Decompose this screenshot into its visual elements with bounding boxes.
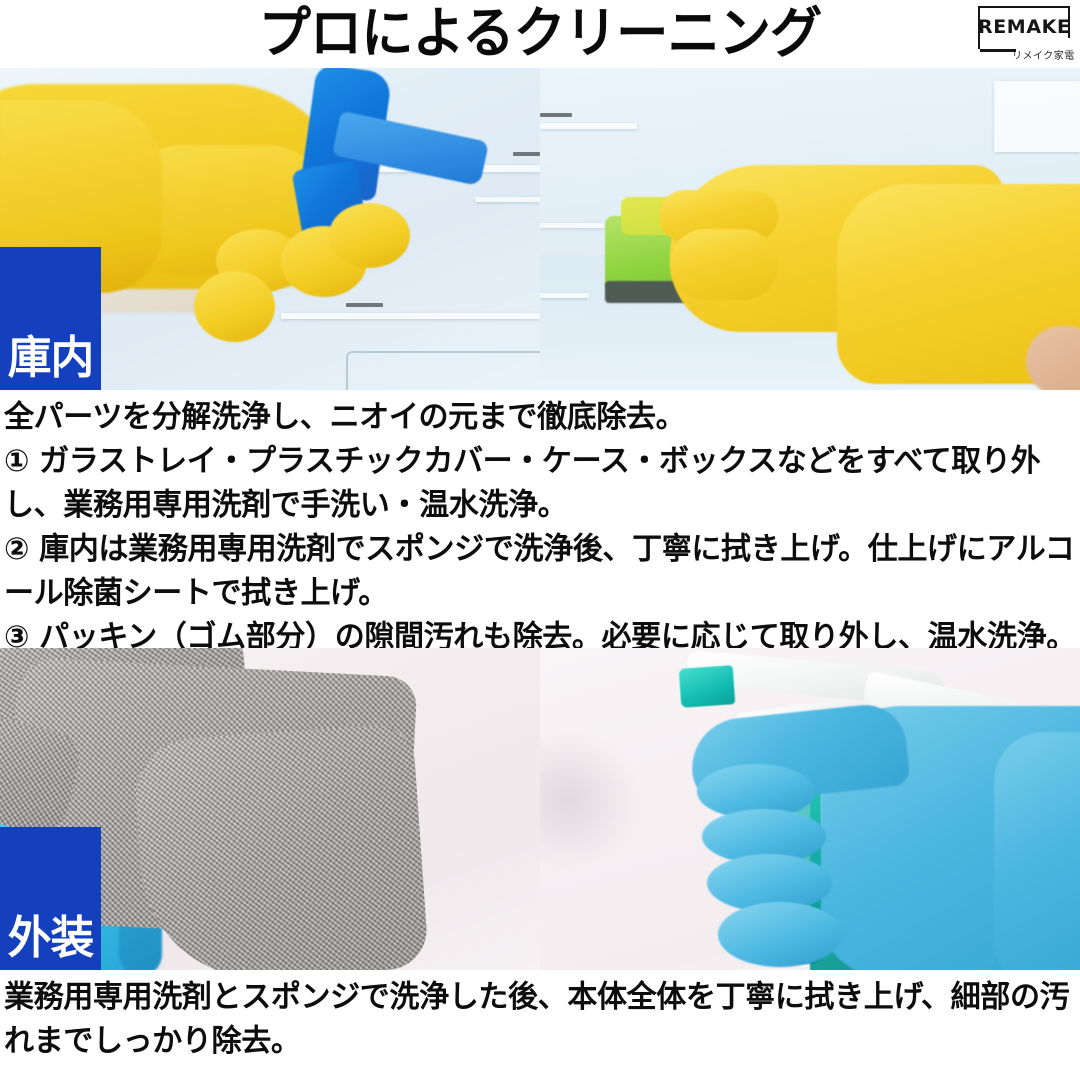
page-header: プロによるクリーニング REMAKE リメイク家電 — [0, 0, 1080, 68]
fridge-door-bin — [994, 81, 1080, 152]
fridge-shelf-edge — [281, 313, 540, 319]
fridge-shelf-edge — [540, 293, 589, 298]
fridge-shelf-edge — [475, 197, 540, 202]
photo-spray-bottle — [540, 648, 1080, 970]
fridge-shelf-edge — [540, 123, 637, 129]
microfiber-towel-fold — [132, 722, 429, 970]
blue-glove-cuff — [994, 732, 1080, 970]
fridge-rail — [540, 113, 572, 117]
section-badge-interior-label: 庫内 — [2, 330, 100, 386]
exterior-description: 業務用専用洗剤とスポンジで洗浄した後、本体全体を丁寧に拭き上げ、細部の汚 れまで… — [0, 976, 1080, 1064]
photo-strip-interior — [0, 68, 1080, 390]
fridge-rail — [346, 303, 384, 307]
fridge-shelf-edge — [540, 223, 605, 228]
fridge-wire-basket — [346, 351, 540, 390]
background-shadow — [540, 732, 637, 867]
description-line: れまでしっかり除去。 — [4, 1020, 1060, 1064]
promo-page: プロによるクリーニング REMAKE リメイク家電 — [0, 0, 1080, 1080]
yellow-glove-finger — [329, 203, 410, 267]
interior-description: 全パーツを分解洗浄し、ニオイの元まで徹底除去。 ① ガラストレイ・プラスチックカ… — [0, 396, 1080, 660]
photo-strip-exterior — [0, 648, 1080, 970]
sprayer-nozzle-teal — [679, 665, 736, 707]
description-line: 業務用専用洗剤とスポンジで洗浄した後、本体全体を丁寧に拭き上げ、細部の汚 — [4, 976, 1060, 1020]
yellow-glove-finger — [194, 271, 275, 342]
section-badge-exterior-label: 外装 — [2, 910, 100, 966]
yellow-glove-finger — [670, 229, 778, 300]
section-badge-interior: 庫内 — [0, 247, 101, 390]
brand-subtitle: リメイク家電 — [1012, 47, 1075, 62]
description-line: ール除菌シートで拭き上げ。 — [4, 572, 1060, 616]
brand-name: REMAKE — [978, 6, 1070, 49]
blue-glove-finger — [718, 902, 842, 966]
description-line: ② 庫内は業務用専用洗剤でスポンジで洗浄後、丁寧に拭き上げ。仕上げにアルコ — [4, 528, 1060, 572]
remake-brand-logo: REMAKE リメイク家電 — [978, 6, 1070, 62]
description-line: ① ガラストレイ・プラスチックカバー・ケース・ボックスなどをすべて取り外 — [4, 440, 1060, 484]
fridge-rail — [513, 152, 540, 156]
description-line: 全パーツを分解洗浄し、ニオイの元まで徹底除去。 — [4, 396, 1060, 440]
page-title: プロによるクリーニング — [27, 0, 1053, 68]
description-line: し、業務用専用洗剤で手洗い・温水洗浄。 — [4, 484, 1060, 528]
photo-fridge-sponge — [540, 68, 1080, 390]
section-badge-exterior: 外装 — [0, 827, 101, 970]
